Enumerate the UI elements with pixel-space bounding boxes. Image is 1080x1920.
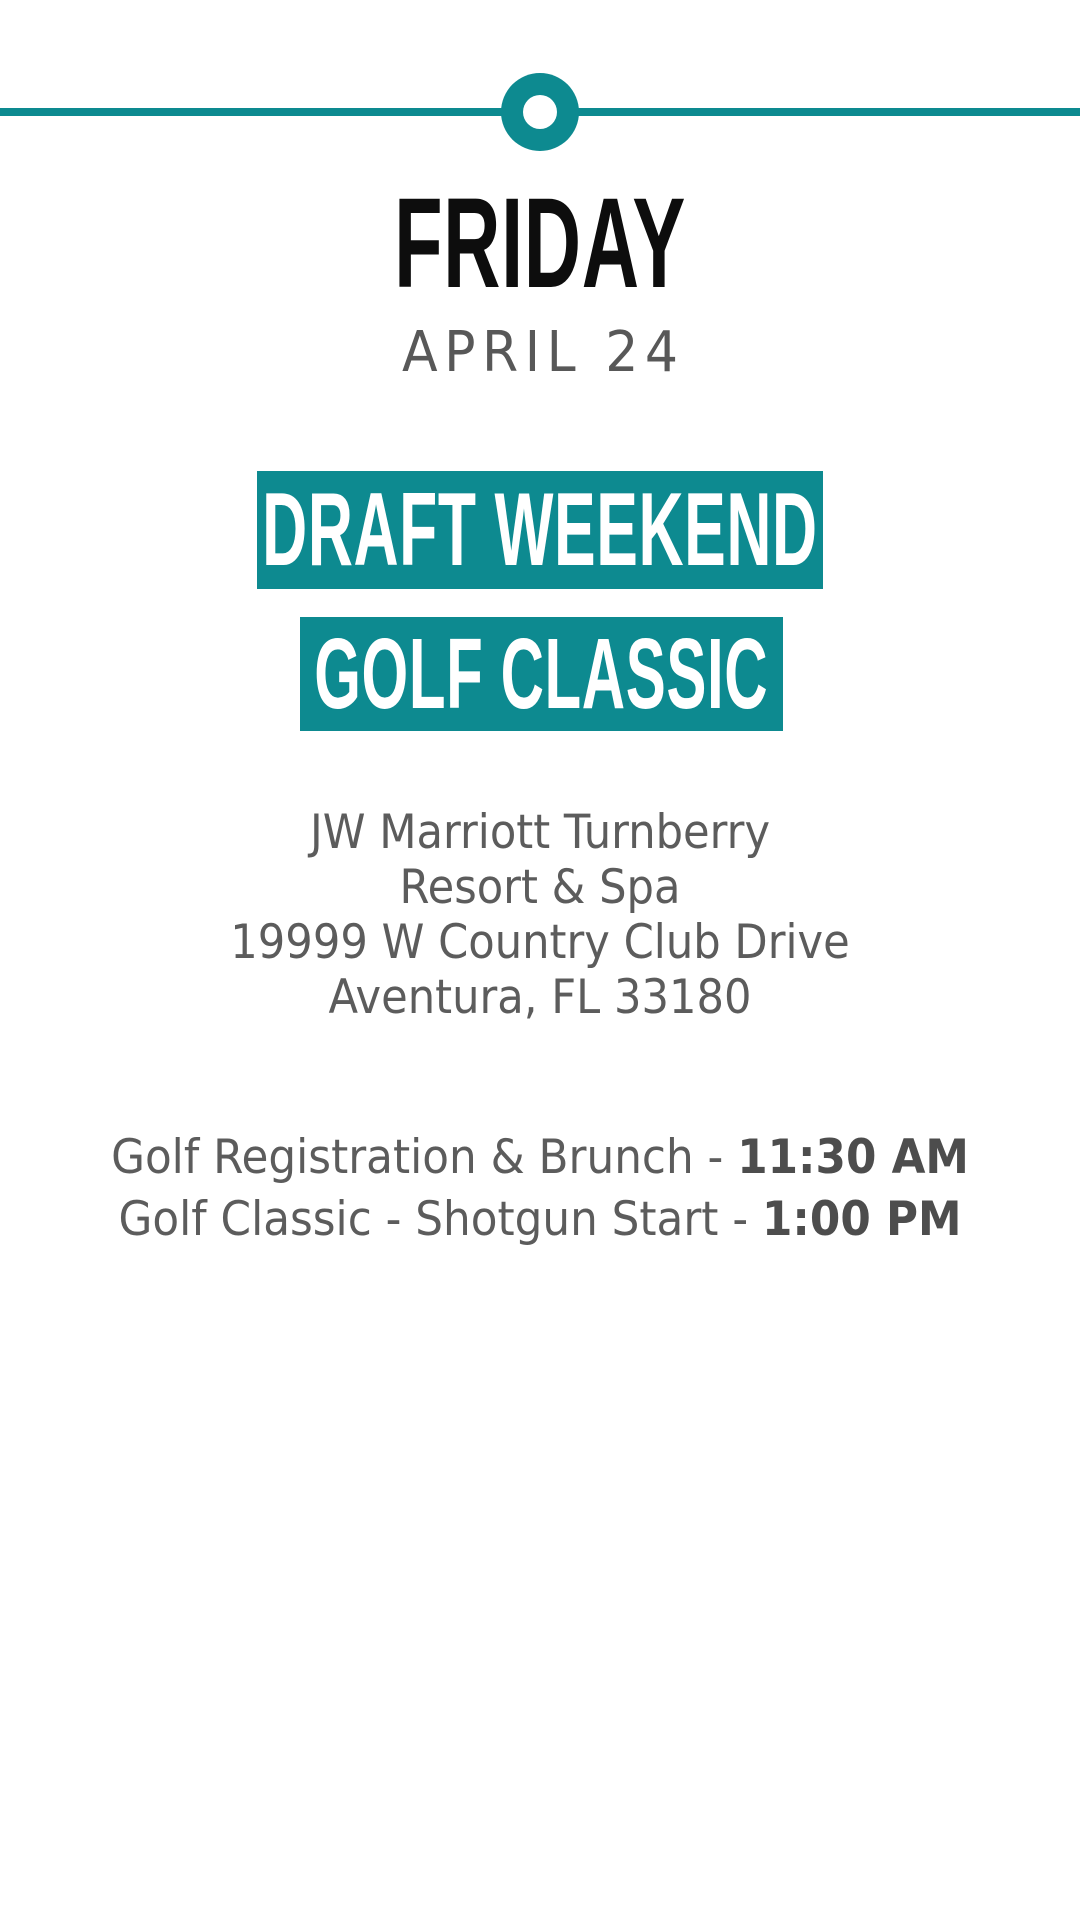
schedule-block: Golf Registration & Brunch - 11:30 AM Go… <box>0 1127 1080 1251</box>
ring-icon-hole <box>523 95 557 129</box>
schedule-item: Golf Classic - Shotgun Start - 1:00 PM <box>38 1189 1042 1251</box>
event-day: FRIDAY <box>205 178 875 310</box>
title-plate-primary-label: DRAFT WEEKEND <box>262 478 818 582</box>
header-divider <box>0 72 1080 152</box>
schedule-item-time: 1:00 PM <box>762 1192 961 1247</box>
venue-address-block: JW Marriott Turnberry Resort & Spa 19999… <box>0 805 1080 1025</box>
event-date: APRIL 24 <box>38 322 1042 384</box>
ring-icon <box>501 73 579 151</box>
title-plate-secondary: GOLF CLASSIC <box>300 617 783 731</box>
venue-line: Aventura, FL 33180 <box>43 970 1037 1025</box>
venue-line: JW Marriott Turnberry <box>43 805 1037 860</box>
schedule-item-time: 11:30 AM <box>737 1130 969 1185</box>
title-plate-secondary-label: GOLF CLASSIC <box>315 624 769 724</box>
event-flyer: FRIDAY APRIL 24 DRAFT WEEKEND GOLF CLASS… <box>0 0 1080 1920</box>
title-plate-primary: DRAFT WEEKEND <box>257 471 823 589</box>
schedule-item-label: Golf Registration & Brunch - <box>111 1130 737 1185</box>
venue-line: 19999 W Country Club Drive <box>43 915 1037 970</box>
schedule-item-label: Golf Classic - Shotgun Start - <box>119 1192 762 1247</box>
schedule-item: Golf Registration & Brunch - 11:30 AM <box>38 1127 1042 1189</box>
venue-line: Resort & Spa <box>43 860 1037 915</box>
